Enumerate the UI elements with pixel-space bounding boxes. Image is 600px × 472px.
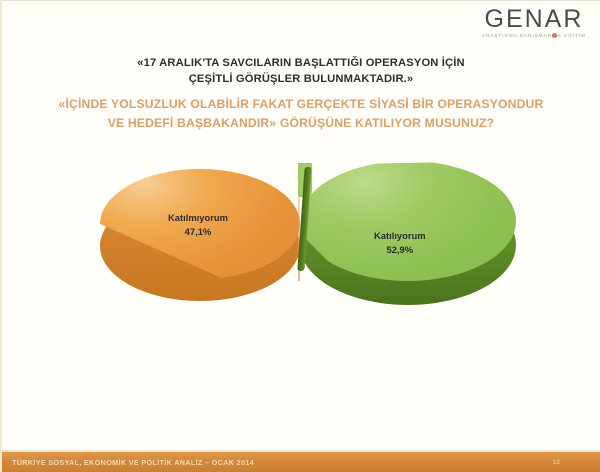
- slide-title-line-1: «17 ARALIK'TA SAVCILARIN BAŞLATTIĞI OPER…: [62, 55, 540, 71]
- footer-label: TÜRKİYE SOSYAL, EKONOMİK VE POLİTİK ANAL…: [12, 458, 254, 467]
- slide-canvas: GENAR ARAŞTIRMA DANIŞMANLIK EĞİTİM «17 A…: [0, 0, 600, 472]
- survey-question: «İÇİNDE YOLSUZLUK OLABİLİR FAKAT GERÇEKT…: [16, 95, 586, 132]
- pie-label-katiliyorum-value: 52,9%: [374, 243, 426, 257]
- pie-chart: Katılmıyorum 47,1% Katılıyorum 52,9%: [82, 161, 522, 361]
- pie-label-katilmiyorum-value: 47,1%: [168, 225, 228, 239]
- logo-wordmark: GENAR: [485, 7, 584, 32]
- heading-block: «17 ARALIK'TA SAVCILARIN BAŞLATTIĞI OPER…: [2, 55, 600, 132]
- survey-question-line-2: VE HEDEFİ BAŞBAKANDIR» GÖRÜŞÜNE KATILIYO…: [16, 114, 586, 132]
- pie-label-katilmiyorum-name: Katılmıyorum: [168, 211, 228, 225]
- pie-label-katiliyorum-name: Katılıyorum: [374, 229, 426, 243]
- logo-dot-icon: [552, 33, 557, 38]
- slide-title: «17 ARALIK'TA SAVCILARIN BAŞLATTIĞI OPER…: [62, 55, 540, 87]
- pie-slice-katilmiyorum[interactable]: [100, 169, 300, 319]
- genar-logo: GENAR ARAŞTIRMA DANIŞMANLIK EĞİTİM: [482, 7, 586, 39]
- footer-bar: TÜRKİYE SOSYAL, EKONOMİK VE POLİTİK ANAL…: [2, 452, 600, 472]
- survey-question-line-1: «İÇİNDE YOLSUZLUK OLABİLİR FAKAT GERÇEKT…: [16, 95, 586, 113]
- logo-tagline: ARAŞTIRMA DANIŞMANLIK EĞİTİM: [482, 34, 586, 39]
- page-number: 12: [553, 459, 560, 466]
- slide-title-line-2: ÇEŞİTLİ GÖRÜŞLER BULUNMAKTADIR.»: [62, 71, 540, 87]
- pie-slice-katiliyorum-face: [300, 161, 516, 281]
- pie-label-katilmiyorum: Katılmıyorum 47,1%: [168, 211, 228, 238]
- pie-label-katiliyorum: Katılıyorum 52,9%: [374, 229, 426, 256]
